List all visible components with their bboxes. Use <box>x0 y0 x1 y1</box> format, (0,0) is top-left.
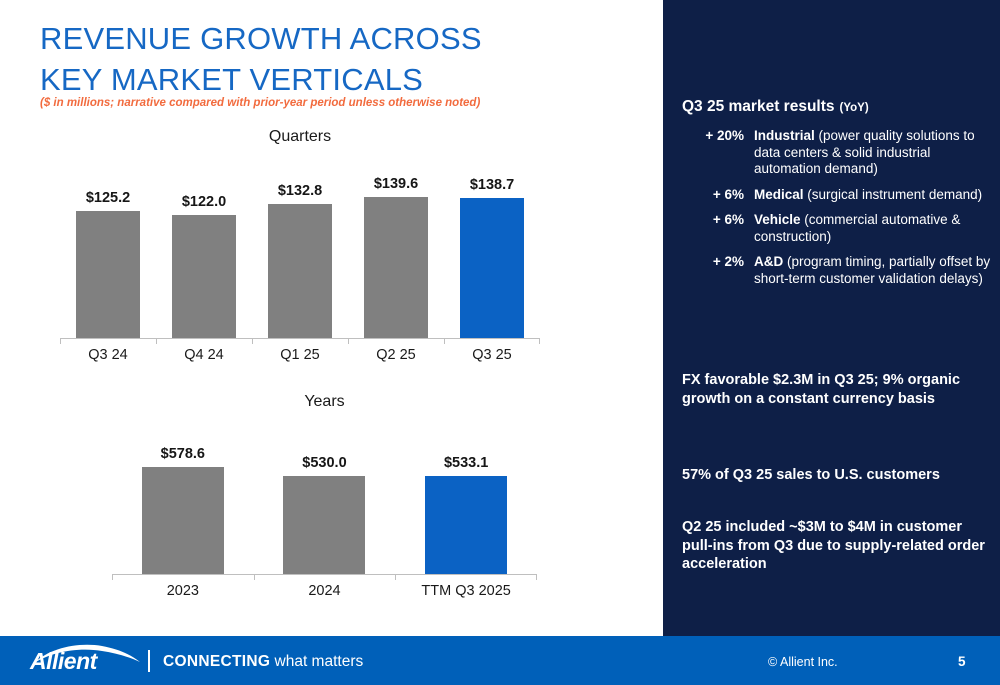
bar <box>425 476 507 574</box>
footer-tagline-rest: what matters <box>270 653 363 670</box>
bullet-market-name: A&D <box>754 254 783 269</box>
bullet-market-name: Medical <box>754 187 804 202</box>
logo-wordmark: Allient <box>30 648 97 675</box>
bar-column: $122.0 <box>156 156 252 338</box>
market-bullet: + 6%Vehicle (commercial automative & con… <box>682 212 1000 245</box>
note-q2-pullins: Q2 25 included ~$3M to $4M in customer p… <box>682 518 994 574</box>
chart-title-quarters: Quarters <box>60 128 540 146</box>
bar-value-label: $139.6 <box>374 176 418 192</box>
panel-heading: Q3 25 market results(YoY) <box>682 98 869 116</box>
footer-divider <box>148 650 150 672</box>
category-label: Q3 24 <box>60 347 156 363</box>
panel-heading-main: Q3 25 market results <box>682 98 835 115</box>
footer-tagline-strong: CONNECTING <box>163 653 270 670</box>
quarters-plot-area: $125.2$122.0$132.8$139.6$138.7 <box>60 156 540 338</box>
page-title: Revenue growth across key market vertica… <box>40 18 640 100</box>
page-subtitle: ($ in millions; narrative compared with … <box>40 96 640 110</box>
bar-column: $530.0 <box>254 421 396 574</box>
bar-value-label: $138.7 <box>470 177 514 193</box>
bullet-percentage: + 2% <box>682 254 754 287</box>
bar-value-label: $132.8 <box>278 183 322 199</box>
bullet-detail: (program timing, partially offset by sho… <box>754 254 990 286</box>
bullet-percentage: + 20% <box>682 128 754 178</box>
bar <box>460 198 524 338</box>
market-bullet-list: + 20%Industrial (power quality solutions… <box>682 128 1000 296</box>
footer-copyright: © Allient Inc. <box>768 655 838 669</box>
bar <box>172 215 236 338</box>
axis-tick <box>112 574 113 580</box>
axis-tick <box>254 574 255 580</box>
category-label: Q1 25 <box>252 347 348 363</box>
axis-tick <box>536 574 537 580</box>
category-label: 2024 <box>254 583 396 599</box>
note-us-sales: 57% of Q3 25 sales to U.S. customers <box>682 466 994 485</box>
bar-value-label: $533.1 <box>444 455 488 471</box>
category-label: Q2 25 <box>348 347 444 363</box>
market-bullet: + 2%A&D (program timing, partially offse… <box>682 254 1000 287</box>
axis-tick <box>444 338 445 344</box>
axis-tick <box>348 338 349 344</box>
bar <box>268 204 332 338</box>
category-label: Q4 24 <box>156 347 252 363</box>
category-label: TTM Q3 2025 <box>395 583 537 599</box>
bar <box>76 211 140 338</box>
bullet-market-name: Industrial <box>754 128 815 143</box>
bar <box>142 467 224 574</box>
bullet-market-name: Vehicle <box>754 212 801 227</box>
bar-column: $132.8 <box>252 156 348 338</box>
bar-column: $578.6 <box>112 421 254 574</box>
panel-heading-sub: (YoY) <box>840 102 869 114</box>
market-results-panel: Q3 25 market results(YoY) + 20%Industria… <box>663 0 1000 636</box>
axis-tick <box>156 338 157 344</box>
bullet-detail: (surgical instrument demand) <box>804 187 983 202</box>
bullet-description: Industrial (power quality solutions to d… <box>754 128 1000 178</box>
market-bullet: + 6%Medical (surgical instrument demand) <box>682 187 1000 204</box>
quarters-bar-chart: Quarters $125.2$122.0$132.8$139.6$138.7 … <box>60 128 540 360</box>
quarters-axis-ticks <box>60 338 540 344</box>
bar <box>364 197 428 338</box>
footer-bar: Allient CONNECTING what matters © Allien… <box>0 636 1000 685</box>
bullet-description: Vehicle (commercial automative & constru… <box>754 212 1000 245</box>
footer-tagline: CONNECTING what matters <box>163 653 363 671</box>
axis-tick <box>252 338 253 344</box>
axis-tick <box>60 338 61 344</box>
axis-tick <box>539 338 540 344</box>
bullet-description: A&D (program timing, partially offset by… <box>754 254 1000 287</box>
note-fx-favorable: FX favorable $2.3M in Q3 25; 9% organic … <box>682 371 994 408</box>
bar-column: $125.2 <box>60 156 156 338</box>
years-plot-area: $578.6$530.0$533.1 <box>112 421 537 574</box>
bar-value-label: $530.0 <box>302 455 346 471</box>
footer-page-number: 5 <box>958 654 966 669</box>
bar <box>283 476 365 574</box>
bar-value-label: $122.0 <box>182 194 226 210</box>
category-label: Q3 25 <box>444 347 540 363</box>
bar-column: $533.1 <box>395 421 537 574</box>
market-bullet: + 20%Industrial (power quality solutions… <box>682 128 1000 178</box>
chart-title-years: Years <box>112 393 537 411</box>
years-bar-chart: Years $578.6$530.0$533.1 20232024TTM Q3 … <box>112 393 537 613</box>
allient-logo[interactable]: Allient <box>30 644 142 676</box>
bar-value-label: $125.2 <box>86 190 130 206</box>
years-axis-ticks <box>112 574 537 580</box>
axis-tick <box>395 574 396 580</box>
bar-column: $139.6 <box>348 156 444 338</box>
bar-value-label: $578.6 <box>161 446 205 462</box>
bullet-description: Medical (surgical instrument demand) <box>754 187 1000 204</box>
bar-column: $138.7 <box>444 156 540 338</box>
category-label: 2023 <box>112 583 254 599</box>
bullet-percentage: + 6% <box>682 212 754 245</box>
bullet-percentage: + 6% <box>682 187 754 204</box>
